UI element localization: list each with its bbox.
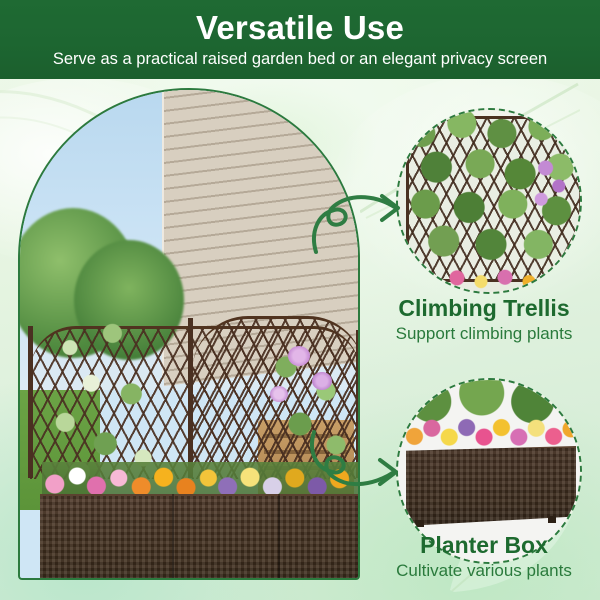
page-subtitle: Serve as a practical raised garden bed o… xyxy=(53,50,547,68)
planter-box-body xyxy=(40,494,360,580)
purple-flower xyxy=(288,346,310,366)
flower-row xyxy=(418,268,568,290)
rattan-planter-body xyxy=(406,446,576,526)
feature-title: Climbing Trellis xyxy=(374,296,594,321)
flower-row xyxy=(404,416,578,450)
planter-foot xyxy=(548,516,556,523)
trellis-post xyxy=(28,326,33,478)
feature-label-climbing-trellis: Climbing Trellis Support climbing plants xyxy=(374,296,594,344)
product-feature-graphic: Versatile Use Serve as a practical raise… xyxy=(0,0,600,600)
purple-flower xyxy=(270,386,288,402)
feature-photo-climbing-trellis xyxy=(396,108,582,294)
page-title: Versatile Use xyxy=(196,11,404,46)
planter-seam xyxy=(172,494,174,580)
main-product-photo xyxy=(18,88,360,580)
purple-flower xyxy=(312,372,332,390)
header-banner: Versatile Use Serve as a practical raise… xyxy=(0,0,600,79)
feature-caption: Support climbing plants xyxy=(374,324,594,344)
purple-flower-cluster xyxy=(528,156,572,216)
planter-foot xyxy=(416,520,424,527)
planter-seam xyxy=(278,494,280,580)
trellis-post xyxy=(188,318,193,478)
trellis-post xyxy=(356,330,360,478)
feature-caption: Cultivate various plants xyxy=(374,561,594,581)
feature-title: Planter Box xyxy=(374,533,594,558)
feature-label-planter-box: Planter Box Cultivate various plants xyxy=(374,533,594,581)
